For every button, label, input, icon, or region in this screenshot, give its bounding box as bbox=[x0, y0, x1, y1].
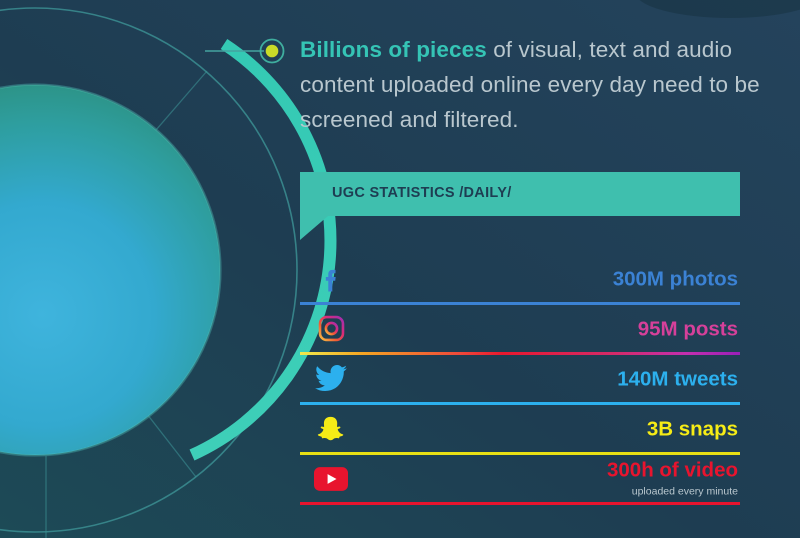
facebook-value: 300M photos bbox=[613, 267, 738, 290]
facebook-icon bbox=[314, 262, 348, 296]
snapchat-icon bbox=[314, 412, 348, 446]
snapchat-value-wrap: 3B snaps bbox=[647, 417, 738, 440]
youtube-rule bbox=[300, 502, 740, 505]
ugc-statistics-panel: UGC STATISTICS /DAILY/ 300M photos bbox=[300, 172, 740, 505]
headline-block: Billions of pieces of visual, text and a… bbox=[300, 32, 760, 137]
stat-row-facebook[interactable]: 300M photos bbox=[300, 255, 740, 302]
stats-rows: 300M photos bbox=[300, 255, 740, 505]
twitter-value-wrap: 140M tweets bbox=[617, 367, 738, 390]
banner-shape bbox=[300, 172, 740, 240]
stat-row-snapchat[interactable]: 3B snaps bbox=[300, 405, 740, 452]
instagram-value-wrap: 95M posts bbox=[638, 317, 738, 340]
facebook-value-wrap: 300M photos bbox=[613, 267, 738, 290]
youtube-icon bbox=[314, 462, 348, 496]
instagram-icon bbox=[314, 312, 348, 346]
lime-marker-ring bbox=[261, 40, 284, 63]
headline-accent: Billions of pieces bbox=[300, 37, 487, 62]
youtube-subvalue: uploaded every minute bbox=[632, 485, 738, 497]
youtube-value-wrap: 300h of video uploaded every minute bbox=[607, 458, 738, 499]
banner-title: UGC STATISTICS /DAILY/ bbox=[332, 185, 512, 201]
stat-row-youtube[interactable]: 300h of video uploaded every minute bbox=[300, 455, 740, 502]
panel-banner: UGC STATISTICS /DAILY/ bbox=[300, 172, 740, 240]
twitter-value: 140M tweets bbox=[617, 367, 738, 390]
instagram-value: 95M posts bbox=[638, 317, 738, 340]
stat-row-twitter[interactable]: 140M tweets bbox=[300, 355, 740, 402]
twitter-icon bbox=[314, 362, 348, 396]
youtube-value: 300h of video bbox=[607, 458, 738, 481]
lime-marker-dot bbox=[266, 45, 279, 58]
snapchat-value: 3B snaps bbox=[647, 417, 738, 440]
headline-text: Billions of pieces of visual, text and a… bbox=[300, 32, 760, 137]
stat-row-instagram[interactable]: 95M posts bbox=[300, 305, 740, 352]
